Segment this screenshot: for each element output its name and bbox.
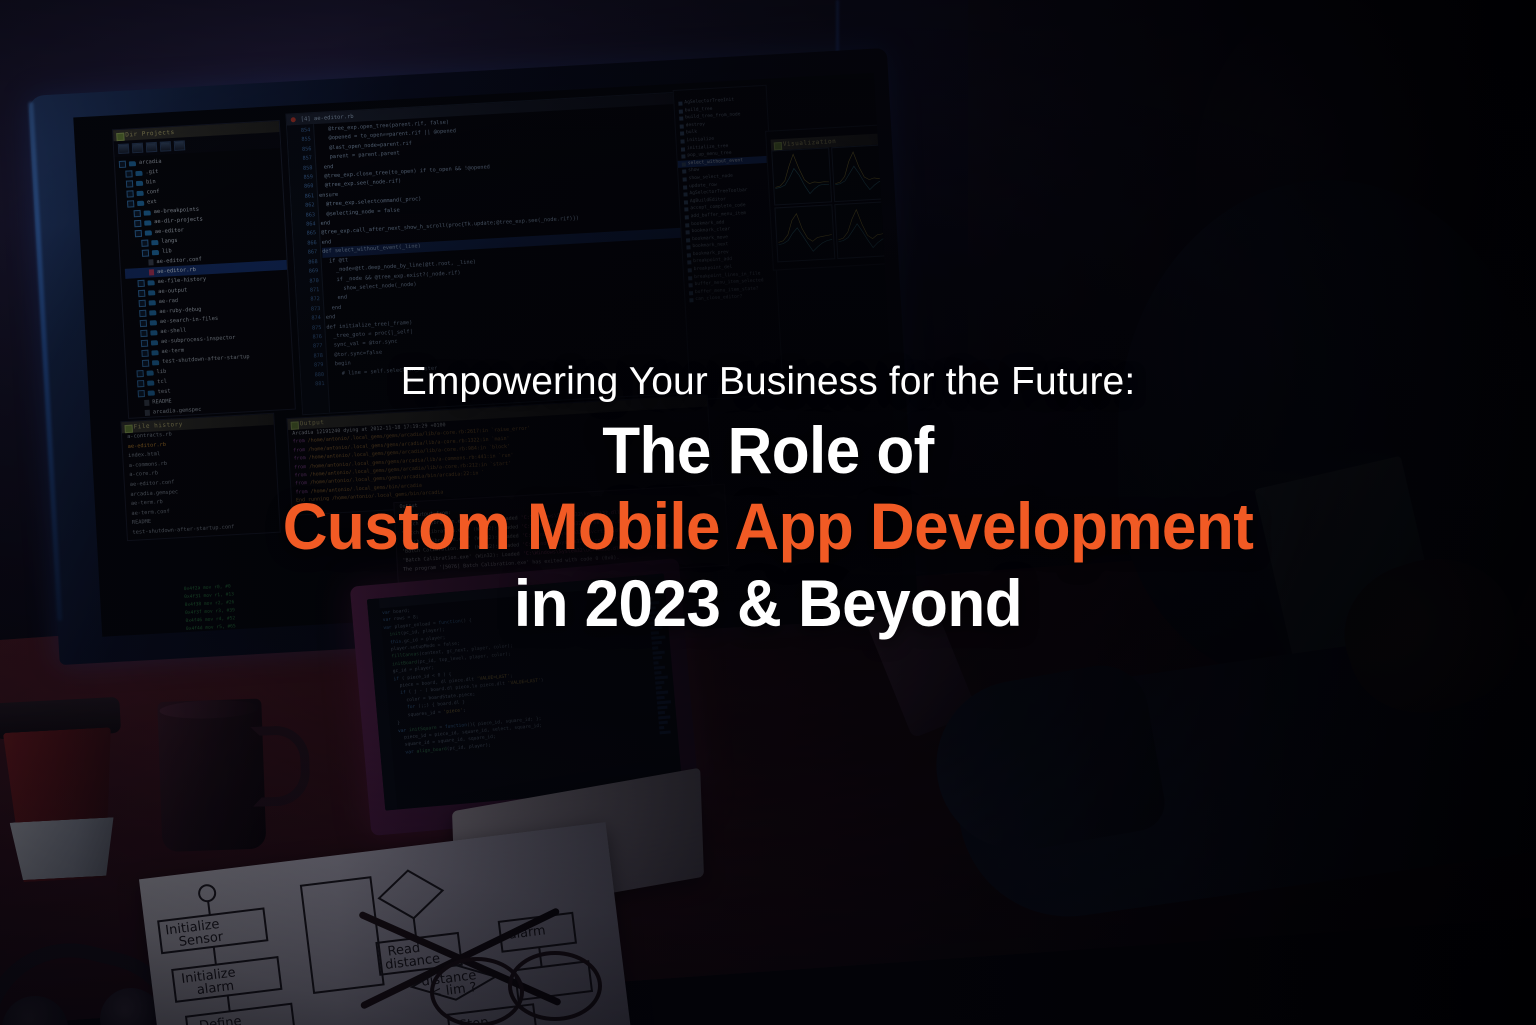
headline-block: Empowering Your Business for the Future:… xyxy=(0,360,1536,641)
headline-line-2-accent: Custom Mobile App Development xyxy=(102,488,1433,565)
headline-line-1: The Role of xyxy=(102,412,1433,489)
headline-line-3: in 2023 & Beyond xyxy=(102,565,1433,642)
headline-eyebrow: Empowering Your Business for the Future: xyxy=(60,360,1476,404)
hero-banner: Dir Projects arcadia.gitbinconfextae-bre… xyxy=(0,0,1536,1025)
